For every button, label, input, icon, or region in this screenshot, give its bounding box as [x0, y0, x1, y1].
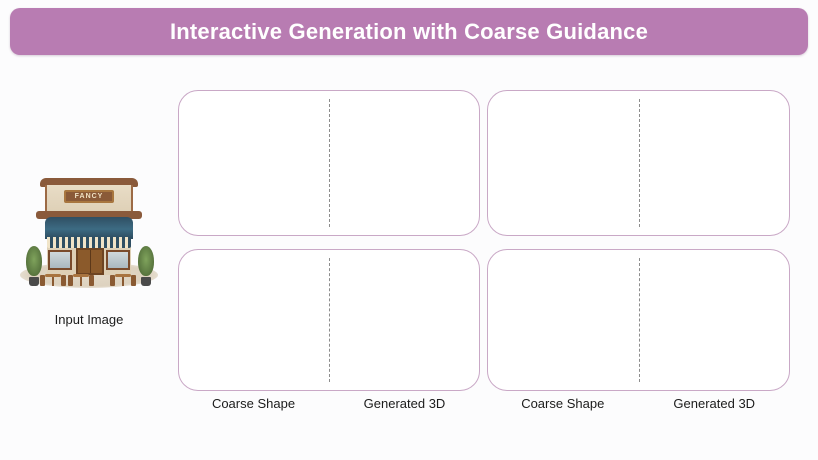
- table-leg-shape: [80, 277, 82, 286]
- store-sign: FANCY: [64, 190, 114, 203]
- potted-tree-right: [138, 246, 154, 286]
- page-title: Interactive Generation with Coarse Guida…: [170, 19, 648, 45]
- input-image-thumbnail: FANCY: [14, 170, 164, 300]
- chair-shape: [61, 275, 66, 286]
- header-banner: Interactive Generation with Coarse Guida…: [10, 8, 808, 55]
- chair-shape: [131, 275, 136, 286]
- store-sign-text: FANCY: [75, 193, 104, 200]
- caption-row-left-group: Coarse Shape Generated 3D: [178, 396, 480, 416]
- caption-coarse-shape: Coarse Shape: [487, 396, 639, 416]
- panel-divider: [639, 258, 640, 382]
- patio-table-set: [110, 272, 136, 288]
- table-leg-shape: [122, 277, 124, 286]
- awning-shape: [45, 217, 133, 239]
- panel-divider: [329, 99, 330, 227]
- tree-pot-shape: [141, 277, 151, 286]
- caption-coarse-shape: Coarse Shape: [178, 396, 329, 416]
- chair-shape: [40, 275, 45, 286]
- result-panel-top-right[interactable]: [487, 90, 790, 236]
- patio-table-set: [68, 272, 94, 288]
- panel-divider: [639, 99, 640, 227]
- patio-table-set: [40, 272, 66, 288]
- awning-valance-shape: [47, 237, 131, 248]
- tree-foliage-shape: [138, 246, 154, 276]
- result-panel-bottom-right[interactable]: [487, 249, 790, 391]
- door-shape: [76, 248, 104, 275]
- chair-shape: [68, 275, 73, 286]
- chair-shape: [89, 275, 94, 286]
- input-image-caption: Input Image: [55, 312, 124, 327]
- storefront-illustration: FANCY: [14, 170, 164, 300]
- window-right-shape: [106, 250, 130, 270]
- result-panel-bottom-left[interactable]: [178, 249, 480, 391]
- table-leg-shape: [52, 277, 54, 286]
- result-panel-top-left[interactable]: [178, 90, 480, 236]
- caption-generated-3d: Generated 3D: [329, 396, 480, 416]
- tree-pot-shape: [29, 277, 39, 286]
- window-left-shape: [48, 250, 72, 270]
- panel-divider: [329, 258, 330, 382]
- caption-row-right-group: Coarse Shape Generated 3D: [487, 396, 790, 416]
- chair-shape: [110, 275, 115, 286]
- caption-generated-3d: Generated 3D: [639, 396, 791, 416]
- input-image-column: FANCY: [8, 170, 170, 327]
